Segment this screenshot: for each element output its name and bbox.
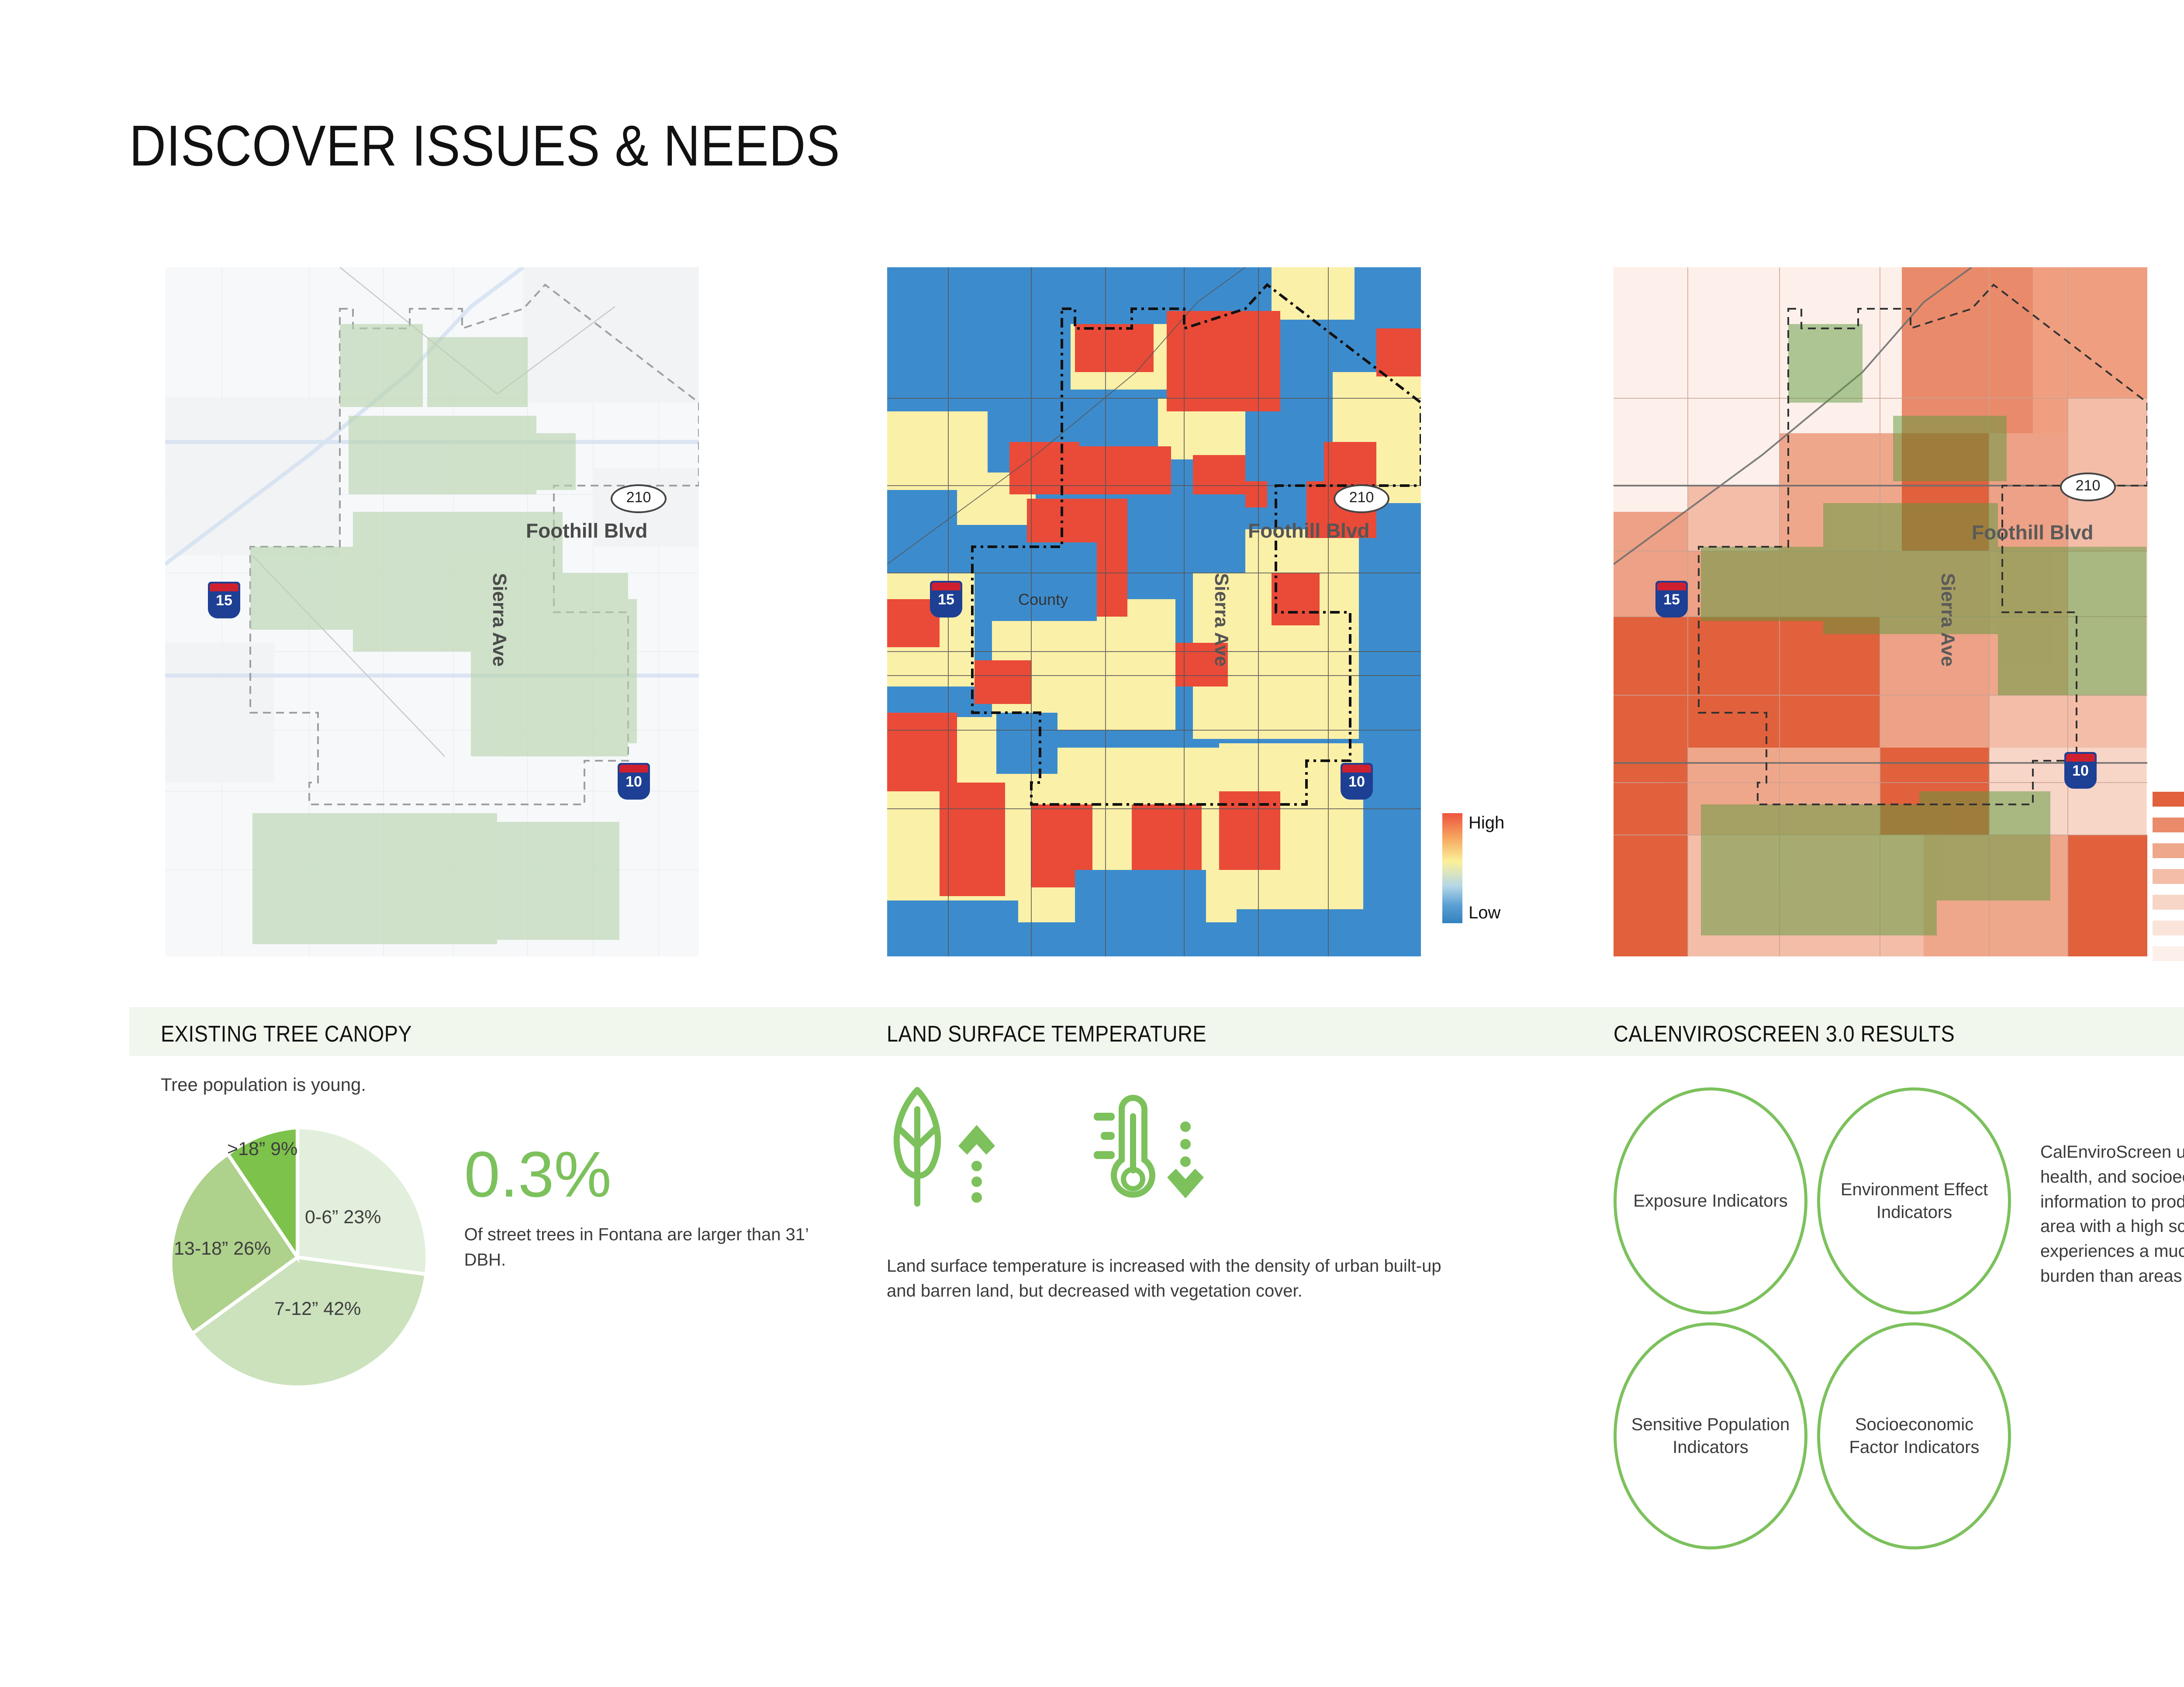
- legend-item: 71 - 80%: [2153, 838, 2184, 863]
- pie-label-7-12: 7-12” 42%: [274, 1298, 361, 1320]
- tree-canopy-lede: Tree population is young.: [161, 1074, 838, 1095]
- bubble-sensitive-population-indicators: Sensitive Population Indicators: [1614, 1322, 1807, 1549]
- legend-swatch: [2153, 869, 2184, 884]
- legend-item: Below 40%: [2153, 941, 2184, 966]
- section-heading-land-surface-temperature: LAND SURFACE TEMPERATURE: [887, 1021, 1206, 1047]
- tree-canopy-stat: 0.3% Of street trees in Fontana are larg…: [464, 1121, 838, 1273]
- stat-description: Of street trees in Fontana are larger th…: [464, 1222, 838, 1273]
- interstate-10-shield: 10: [618, 763, 650, 800]
- calenviroscreen-legend: 91 - 100% 81 - 90% 71 - 80% 61 - 70% 51 …: [2153, 786, 2184, 966]
- calenviroscreen-map[interactable]: 15 210 10 Foothill Blvd Sierra Ave: [1614, 267, 2147, 956]
- page-title: DISCOVER ISSUES & NEEDS: [129, 113, 840, 179]
- highway-210-shield: 210: [611, 484, 667, 513]
- legend-label-high: High: [1469, 813, 1504, 833]
- land-surface-temperature-section: Land surface temperature is increased wi…: [887, 1074, 1564, 1304]
- road-label-foothill-blvd: Foothill Blvd: [1248, 519, 1370, 542]
- legend-swatch: [2153, 921, 2184, 935]
- interstate-15-shield: 15: [930, 581, 962, 618]
- bubble-environment-effect-indicators: Environment Effect Indicators: [1817, 1087, 2011, 1314]
- bubble-exposure-indicators: Exposure Indicators: [1614, 1087, 1807, 1314]
- interstate-10-shield: 10: [2064, 752, 2097, 789]
- tree-canopy-map[interactable]: 15 210 10 Foothill Blvd Sierra Ave: [165, 267, 699, 956]
- legend-item: 61 - 70%: [2153, 863, 2184, 889]
- interstate-10-shield: 10: [1341, 763, 1373, 800]
- land-surface-temperature-map[interactable]: 15 210 10 Foothill Blvd Sierra Ave Count…: [887, 267, 1421, 956]
- section-heading-calenviroscreen: CALENVIROSCREEN 3.0 RESULTS: [1614, 1021, 1955, 1047]
- legend-label-low: Low: [1469, 903, 1500, 923]
- legend-swatch: [2153, 895, 2184, 910]
- legend-swatch: [2153, 792, 2184, 807]
- legend-swatch: [2153, 818, 2184, 832]
- calenviroscreen-section: Exposure Indicators Environment Effect I…: [1614, 1087, 2184, 1549]
- pie-label-13-18: 13-18” 26%: [174, 1238, 271, 1260]
- legend-swatch: [2153, 946, 2184, 961]
- calenviroscreen-body: CalEnviroScreen uses environmental, heal…: [2040, 1140, 2184, 1289]
- road-label-sierra-ave: Sierra Ave: [1937, 573, 1959, 666]
- tree-canopy-section: Tree population is young. 0-6” 23% 7-12”…: [161, 1074, 838, 1394]
- calenviroscreen-indicator-bubbles: Exposure Indicators Environment Effect I…: [1614, 1087, 2014, 1549]
- tree-canopy-map-graphic: [165, 267, 699, 956]
- bubble-socioeconomic-factor-indicators: Socioeconomic Factor Indicators: [1817, 1322, 2011, 1549]
- leaf-increase-icon: [887, 1083, 1018, 1212]
- stat-number: 0.3%: [464, 1142, 838, 1207]
- pie-label-18plus: >18” 9%: [227, 1138, 297, 1160]
- road-label-foothill-blvd: Foothill Blvd: [526, 519, 648, 542]
- temperature-gradient-legend: [1442, 813, 1462, 923]
- road-label-sierra-ave: Sierra Ave: [488, 573, 510, 666]
- legend-item: 51 - 60%: [2153, 889, 2184, 915]
- ces-map-graphic: [1614, 267, 2147, 956]
- thermometer-decrease-icon: [1083, 1083, 1214, 1212]
- road-label-foothill-blvd: Foothill Blvd: [1972, 521, 2094, 544]
- highway-210-shield: 210: [1334, 484, 1389, 513]
- tree-canopy-pie-chart: 0-6” 23% 7-12” 42% 13-18” 26% >18” 9%: [161, 1121, 422, 1394]
- road-label-county: County: [1018, 590, 1068, 609]
- interstate-15-shield: 15: [208, 582, 240, 618]
- legend-item: 41 - 50%: [2153, 915, 2184, 941]
- pie-label-0-6: 0-6” 23%: [305, 1206, 381, 1228]
- legend-swatch: [2153, 843, 2184, 858]
- road-label-sierra-ave: Sierra Ave: [1210, 573, 1232, 666]
- land-surface-temperature-body: Land surface temperature is increased wi…: [887, 1254, 1446, 1304]
- legend-item: 81 - 90%: [2153, 812, 2184, 838]
- lst-map-graphic: [887, 267, 1421, 956]
- section-heading-existing-tree-canopy: EXISTING TREE CANOPY: [161, 1021, 412, 1047]
- interstate-15-shield: 15: [1655, 581, 1688, 618]
- highway-210-shield: 210: [2060, 473, 2116, 501]
- legend-item: 91 - 100%: [2153, 786, 2184, 812]
